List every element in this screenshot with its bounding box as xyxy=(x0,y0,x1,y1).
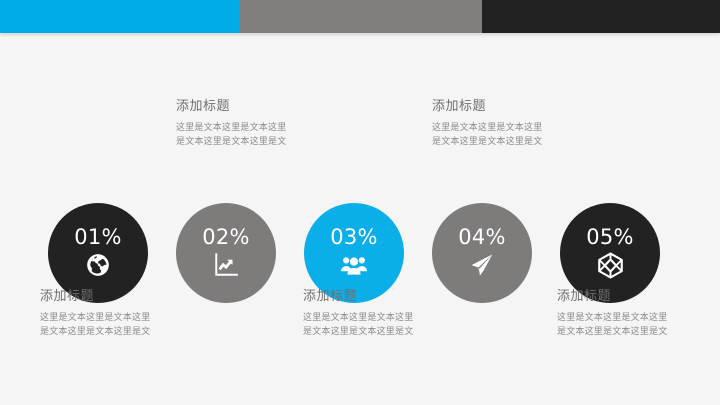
text-block-04-title: 添加标题 xyxy=(432,99,582,116)
stat-circle-01-percent: 01% xyxy=(74,227,122,248)
text-block-04-body: 这里是文本这里是文本这里 是文本这里是文本这里是文 xyxy=(432,122,582,150)
text-block-05-body-line1: 这里是文本这里是文本这里 xyxy=(557,312,707,326)
text-block-04-body-line2: 是文本这里是文本这里是文 xyxy=(432,136,582,150)
text-block-05: 添加标题 这里是文本这里是文本这里 是文本这里是文本这里是文 xyxy=(557,289,707,340)
text-block-04-body-line1: 这里是文本这里是文本这里 xyxy=(432,122,582,136)
text-block-02-title: 添加标题 xyxy=(176,99,326,116)
text-block-02-body-line1: 这里是文本这里是文本这里 xyxy=(176,122,326,136)
slide-canvas: 添加标题 这里是文本这里是文本这里 是文本这里是文本这里是文 添加标题 这里是文… xyxy=(0,33,720,405)
text-block-01-body-line2: 是文本这里是文本这里是文 xyxy=(40,326,190,340)
text-block-05-title: 添加标题 xyxy=(557,289,707,306)
stat-circle-02[interactable]: 02% xyxy=(176,203,276,303)
text-block-01-body-line1: 这里是文本这里是文本这里 xyxy=(40,312,190,326)
stat-circle-05-percent: 05% xyxy=(586,227,634,248)
top-color-bar xyxy=(0,0,720,33)
stat-circle-04-percent: 04% xyxy=(458,227,506,248)
stat-circle-05[interactable]: 05% xyxy=(560,203,660,303)
text-block-05-body: 这里是文本这里是文本这里 是文本这里是文本这里是文 xyxy=(557,312,707,340)
text-block-02: 添加标题 这里是文本这里是文本这里 是文本这里是文本这里是文 xyxy=(176,99,326,150)
text-block-01: 添加标题 这里是文本这里是文本这里 是文本这里是文本这里是文 xyxy=(40,289,190,340)
cube-icon xyxy=(596,251,624,279)
stat-circle-02-percent: 02% xyxy=(202,227,250,248)
people-icon xyxy=(340,251,368,279)
top-bar-gray-segment xyxy=(240,0,482,33)
text-block-03-title: 添加标题 xyxy=(303,289,453,306)
stat-circle-04[interactable]: 04% xyxy=(432,203,532,303)
text-block-05-body-line2: 是文本这里是文本这里是文 xyxy=(557,326,707,340)
text-block-03-body-line2: 是文本这里是文本这里是文 xyxy=(303,326,453,340)
top-bar-blue-segment xyxy=(0,0,240,33)
text-block-02-body: 这里是文本这里是文本这里 是文本这里是文本这里是文 xyxy=(176,122,326,150)
text-block-01-body: 这里是文本这里是文本这里 是文本这里是文本这里是文 xyxy=(40,312,190,340)
text-block-01-title: 添加标题 xyxy=(40,289,190,306)
text-block-04: 添加标题 这里是文本这里是文本这里 是文本这里是文本这里是文 xyxy=(432,99,582,150)
stat-circle-01[interactable]: 01% xyxy=(48,203,148,303)
top-bar-dark-segment xyxy=(482,0,720,33)
text-block-03: 添加标题 这里是文本这里是文本这里 是文本这里是文本这里是文 xyxy=(303,289,453,340)
text-block-03-body: 这里是文本这里是文本这里 是文本这里是文本这里是文 xyxy=(303,312,453,340)
stat-circle-03-percent: 03% xyxy=(330,227,378,248)
globe-icon xyxy=(84,251,112,279)
paper-plane-icon xyxy=(468,251,496,279)
line-chart-icon xyxy=(212,251,240,279)
stat-circle-03[interactable]: 03% xyxy=(304,203,404,303)
text-block-03-body-line1: 这里是文本这里是文本这里 xyxy=(303,312,453,326)
text-block-02-body-line2: 是文本这里是文本这里是文 xyxy=(176,136,326,150)
